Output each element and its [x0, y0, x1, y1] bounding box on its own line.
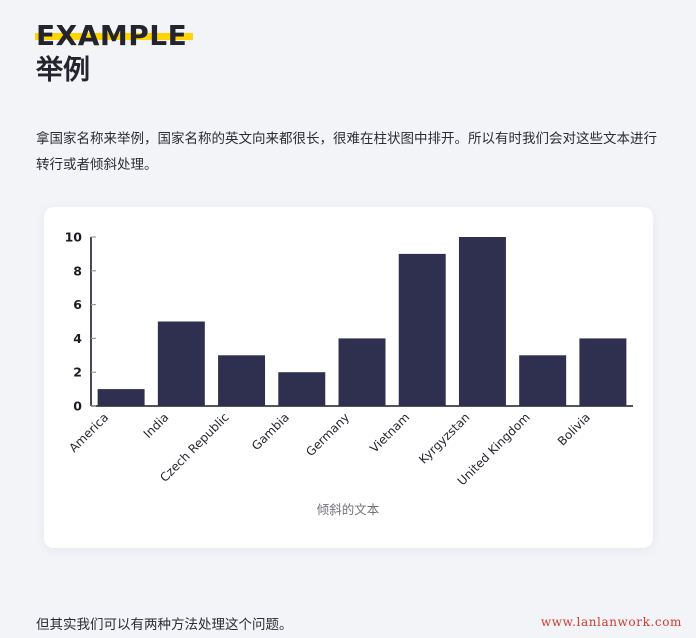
bar: [579, 338, 626, 406]
y-axis-tick-label: 0: [73, 399, 82, 414]
chart-ytick-labels: 0246810: [65, 230, 83, 414]
page-root: EXAMPLE 举例 拿国家名称来举例，国家名称的英文向来都很长，很难在柱状图中…: [0, 0, 696, 636]
bar: [399, 254, 446, 406]
bar: [459, 237, 506, 406]
x-axis-title: 倾斜的文本: [317, 502, 380, 517]
bar: [158, 322, 205, 407]
chart-bars: [98, 237, 627, 406]
page-title-en-text: EXAMPLE: [36, 19, 187, 52]
bar: [218, 355, 265, 406]
bar-chart: 0246810 AmericaIndiaCzech RepublicGambia…: [44, 207, 653, 548]
bar: [98, 389, 145, 406]
chart-xtick-labels: AmericaIndiaCzech RepublicGambiaGermanyV…: [66, 410, 593, 488]
intro-paragraph: 拿国家名称来举例，国家名称的英文向来都很长，很难在柱状图中排开。所以有时我们会对…: [36, 126, 664, 178]
bar: [339, 338, 386, 406]
x-axis-category-label: Kyrgyzstan: [416, 410, 472, 466]
x-axis-category-label: Bolivia: [555, 410, 593, 448]
x-axis-category-label: Gambia: [249, 410, 292, 453]
y-axis-tick-label: 6: [73, 297, 82, 312]
bar-chart-svg: 0246810 AmericaIndiaCzech RepublicGambia…: [44, 207, 653, 548]
y-axis-tick-label: 8: [73, 263, 82, 278]
x-axis-category-label: India: [141, 410, 172, 441]
x-axis-category-label: America: [66, 410, 111, 455]
y-axis-tick-label: 10: [65, 230, 83, 245]
page-title-en: EXAMPLE: [36, 20, 187, 52]
bar: [278, 372, 325, 406]
bar: [519, 355, 566, 406]
site-watermark: www.lanlanwork.com: [541, 615, 682, 629]
heading-block: EXAMPLE 举例: [36, 20, 656, 88]
x-axis-category-label: Vietnam: [367, 410, 412, 455]
y-axis-tick-label: 4: [73, 331, 82, 346]
page-title-zh: 举例: [36, 54, 656, 88]
x-axis-category-label: Germany: [303, 410, 352, 459]
chart-card: 0246810 AmericaIndiaCzech RepublicGambia…: [44, 207, 653, 548]
y-axis-tick-label: 2: [73, 365, 82, 380]
